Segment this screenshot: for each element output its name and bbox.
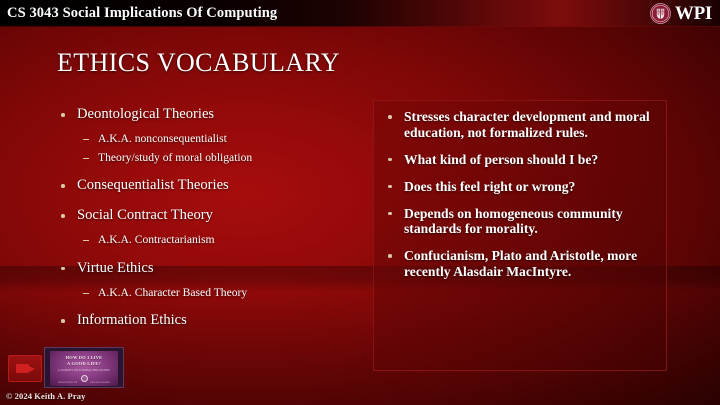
wpi-brand: WPI bbox=[650, 3, 720, 24]
wpi-seal-icon bbox=[650, 3, 671, 24]
slide-header-bar: CS 3043 Social Implications Of Computing… bbox=[0, 0, 720, 27]
bullet-item: Consequentialist Theories bbox=[58, 177, 358, 194]
thumbnail-title-line-1: HOW DO I LIVE bbox=[66, 355, 103, 361]
video-camera-icon[interactable] bbox=[8, 355, 42, 382]
course-title: CS 3043 Social Implications Of Computing bbox=[0, 5, 277, 22]
wpi-wordmark: WPI bbox=[675, 4, 712, 23]
camera-glyph bbox=[16, 363, 35, 374]
sub-bullet-item: A.K.A. nonconsequentialist bbox=[58, 132, 358, 146]
virtue-ethics-panel: Stresses character development and moral… bbox=[373, 100, 667, 371]
bullet-item: Virtue Ethics bbox=[58, 260, 358, 277]
thumbnail-seal-icon bbox=[81, 375, 88, 382]
bullet-item: Deontological Theories bbox=[58, 106, 358, 123]
sub-bullet-item: Theory/study of moral obligation bbox=[58, 151, 358, 165]
bullet-item: Information Ethics bbox=[58, 312, 358, 329]
presentation-slide: CS 3043 Social Implications Of Computing… bbox=[0, 0, 720, 405]
thumbnail-footer-right: CRASH COURSE bbox=[90, 381, 110, 384]
panel-bullet-item: Confucianism, Plato and Aristotle, more … bbox=[384, 248, 655, 280]
panel-bullet-item: Depends on homogeneous community standar… bbox=[384, 206, 655, 238]
sub-bullet-item: A.K.A. Character Based Theory bbox=[58, 286, 358, 300]
panel-bullet-item: Does this feel right or wrong? bbox=[384, 179, 655, 195]
thumbnail-title-line-2: A GOOD LIFE? bbox=[67, 361, 101, 367]
copyright-notice: © 2024 Keith A. Pray bbox=[6, 391, 85, 401]
bullet-item: Social Contract Theory bbox=[58, 207, 358, 224]
slide-title: ETHICS VOCABULARY bbox=[57, 48, 340, 78]
video-thumbnail[interactable]: HOW DO I LIVE A GOOD LIFE? A JOURNEY INT… bbox=[44, 347, 124, 388]
panel-bullet-item: Stresses character development and moral… bbox=[384, 109, 655, 141]
left-bullet-list: Deontological Theories A.K.A. nonconsequ… bbox=[58, 106, 358, 338]
thumbnail-footer-left: PRESENTED BY bbox=[58, 381, 77, 384]
sub-bullet-item: A.K.A. Contractarianism bbox=[58, 233, 358, 247]
thumbnail-artwork: HOW DO I LIVE A GOOD LIFE? A JOURNEY INT… bbox=[50, 351, 118, 386]
panel-bullet-item: What kind of person should I be? bbox=[384, 152, 655, 168]
thumbnail-subtitle: A JOURNEY INTO MORAL PHILOSOPHY bbox=[58, 369, 110, 372]
